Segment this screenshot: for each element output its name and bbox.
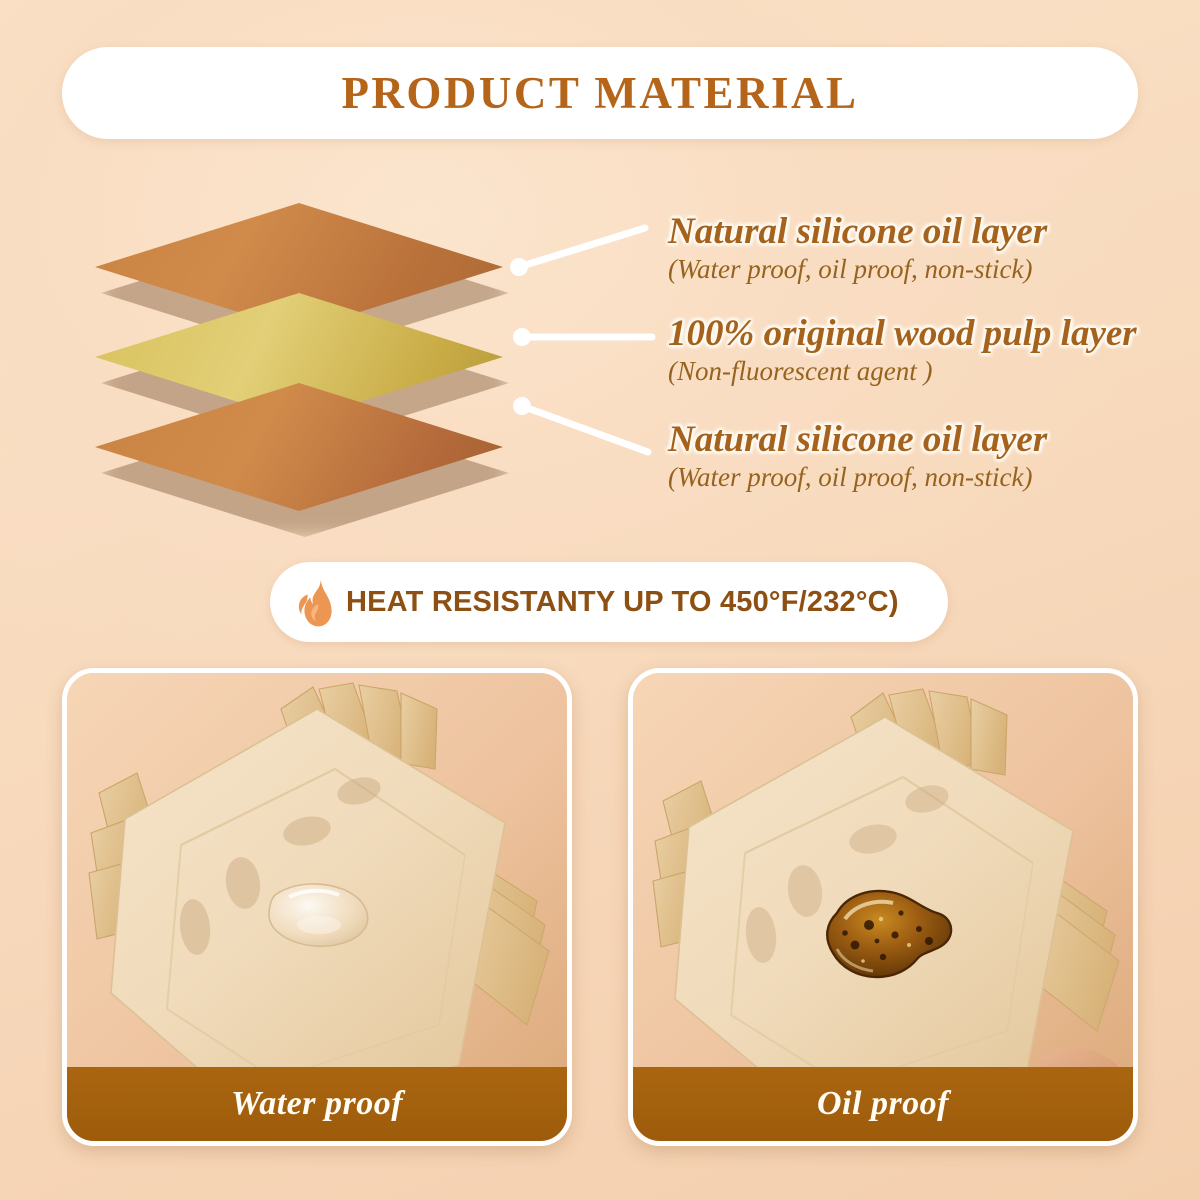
callout-subtitle: (Non-fluorescent agent ) [668, 356, 1198, 387]
page-title-banner: PRODUCT MATERIAL [62, 47, 1138, 139]
heat-resistance-text: HEAT RESISTANTY UP TO 450°F/232°C) [346, 586, 899, 619]
product-material-infographic: PRODUCT MATERIAL Natural silicone oil la… [0, 0, 1200, 1200]
callout-title: Natural silicone oil layer [668, 420, 1198, 460]
flame-icon [296, 576, 338, 628]
layer-stack-diagram [95, 195, 565, 495]
callout-subtitle: (Water proof, oil proof, non-stick) [668, 254, 1198, 285]
caption-label: Water proof [231, 1085, 403, 1123]
caption-label: Oil proof [817, 1085, 949, 1123]
page-title: PRODUCT MATERIAL [341, 67, 858, 119]
callout-bottom-silicone: Natural silicone oil layer (Water proof,… [668, 420, 1198, 493]
callout-top-silicone: Natural silicone oil layer (Water proof,… [668, 212, 1198, 285]
callout-title: Natural silicone oil layer [668, 212, 1198, 252]
heat-resistance-banner: HEAT RESISTANTY UP TO 450°F/232°C) [270, 562, 948, 642]
callout-subtitle: (Water proof, oil proof, non-stick) [668, 462, 1198, 493]
caption-bar-oil-proof: Oil proof [633, 1067, 1133, 1141]
callout-title: 100% original wood pulp layer [668, 314, 1198, 354]
demo-card-water-proof: Water proof [62, 668, 572, 1146]
demo-card-oil-proof: Oil proof [628, 668, 1138, 1146]
caption-bar-water-proof: Water proof [67, 1067, 567, 1141]
callout-wood-pulp: 100% original wood pulp layer (Non-fluor… [668, 314, 1198, 387]
